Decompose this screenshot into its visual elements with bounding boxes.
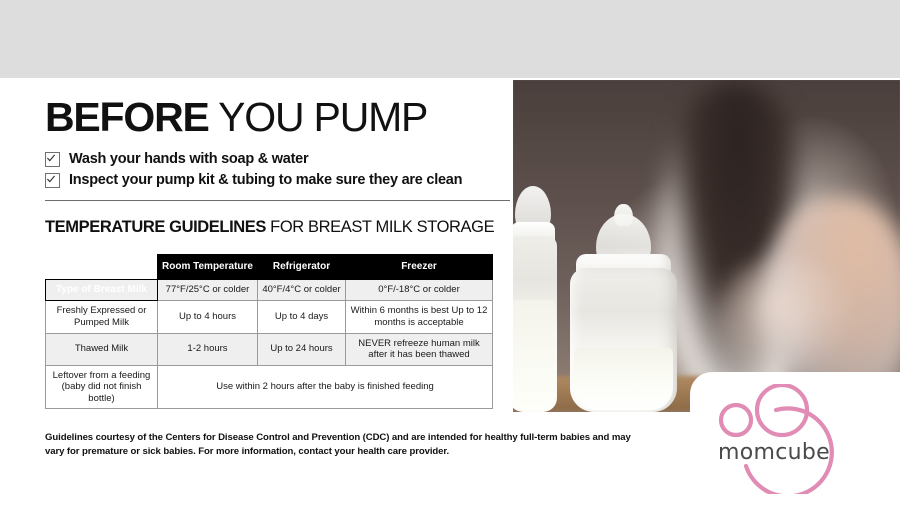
checklist-label: Inspect your pump kit & tubing to make s… [69,172,462,188]
checkbox-checked-icon[interactable] [45,152,60,167]
page-title-light: YOU PUMP [209,94,428,140]
table-row-temperatures: Type of Breast Milk 77°F/25°C or colder … [46,280,493,301]
checklist-label: Wash your hands with soap & water [69,151,308,167]
cell-type-leftover: Leftover from a feeding (baby did not fi… [46,365,158,409]
bottle-back-milk [513,300,555,410]
cell-temp-freezer: 0°F/-18°C or colder [346,280,493,301]
header-cell-blank [46,255,158,280]
cell-temp-refrigerator: 40°F/4°C or colder [258,280,346,301]
cell-freezer-freshly-expressed: Within 6 months is best Up to 12 months … [346,301,493,333]
section-title-bold: TEMPERATURE GUIDELINES [45,218,266,236]
infographic-page: momcube BEFORE YOU PUMP Wash your hands … [0,0,900,521]
cell-leftover-note: Use within 2 hours after the baby is fin… [158,365,493,409]
checkbox-checked-icon[interactable] [45,173,60,188]
row-label-header: Type of Breast Milk [46,280,158,301]
section-title-light: FOR BREAST MILK STORAGE [266,218,494,236]
logo-panel: momcube [690,372,900,521]
pre-pump-checklist: Wash your hands with soap & water Inspec… [45,151,510,188]
footnote-text: Guidelines courtesy of the Centers for D… [45,431,645,458]
photo-arm-figure [718,255,853,385]
cell-type-freshly-expressed: Freshly Expressed or Pumped Milk [46,301,158,333]
cell-type-thawed-milk: Thawed Milk [46,333,158,365]
table-row: Freshly Expressed or Pumped Milk Up to 4… [46,301,493,333]
momcube-mark-icon [710,384,890,494]
bottle-back [513,188,557,412]
page-title-bold: BEFORE [45,94,209,140]
header-cell-room-temperature: Room Temperature [158,255,258,280]
bottle-front [570,228,677,412]
storage-guidelines-table: Room Temperature Refrigerator Freezer Ty… [45,254,493,409]
table-row-leftover: Leftover from a feeding (baby did not fi… [46,365,493,409]
cell-room-freshly-expressed: Up to 4 hours [158,301,258,333]
list-item: Wash your hands with soap & water [45,151,510,167]
hero-photo [513,80,900,412]
table-row: Thawed Milk 1-2 hours Up to 24 hours NEV… [46,333,493,365]
content-column: BEFORE YOU PUMP Wash your hands with soa… [45,97,510,459]
top-gray-banner [0,0,900,78]
cell-temp-room: 77°F/25°C or colder [158,280,258,301]
cell-room-thawed-milk: 1-2 hours [158,333,258,365]
cell-refrigerator-freshly-expressed: Up to 4 days [258,301,346,333]
header-cell-freezer: Freezer [346,255,493,280]
divider [45,200,510,201]
cell-refrigerator-thawed-milk: Up to 24 hours [258,333,346,365]
list-item: Inspect your pump kit & tubing to make s… [45,172,510,188]
bottle-front-milk [574,348,673,410]
page-title: BEFORE YOU PUMP [45,97,510,138]
cell-freezer-thawed-milk: NEVER refreeze human milk after it has b… [346,333,493,365]
momcube-wordmark: momcube [718,440,830,465]
section-title: TEMPERATURE GUIDELINES FOR BREAST MILK S… [45,218,510,237]
header-cell-refrigerator: Refrigerator [258,255,346,280]
table-header-row: Room Temperature Refrigerator Freezer [46,255,493,280]
momcube-logo: momcube [710,384,890,494]
